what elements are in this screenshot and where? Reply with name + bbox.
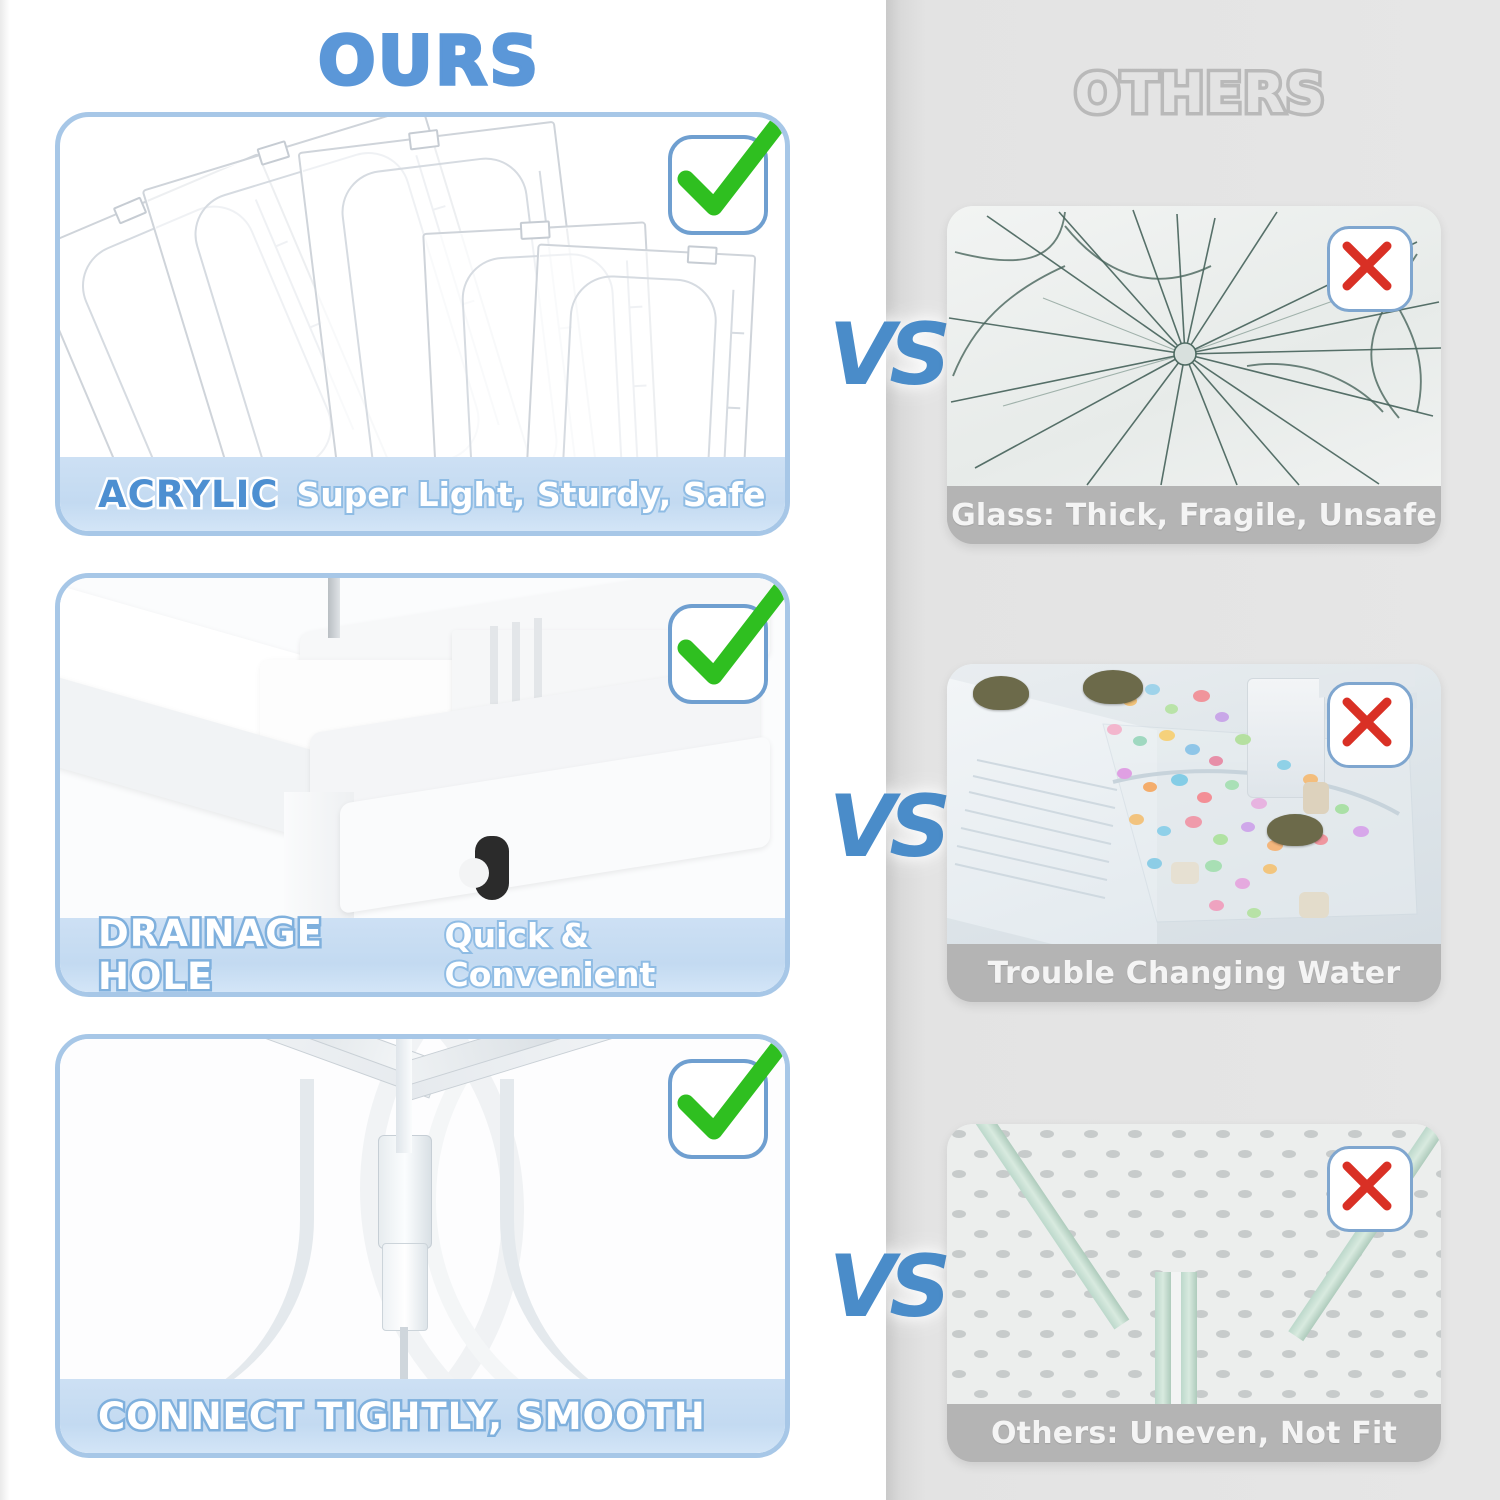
- others-card-water-change: Trouble Changing Water: [947, 664, 1441, 1002]
- ours-card-connection: CONNECT TIGHTLY, SMOOTH: [55, 1034, 790, 1458]
- connection-caption-bar: CONNECT TIGHTLY, SMOOTH: [60, 1379, 785, 1453]
- ours-card-drainage: DRAINAGE HOLE Quick & Convenient: [55, 573, 790, 997]
- others-heading: OTHERS: [1035, 62, 1365, 125]
- check-badge: [668, 135, 760, 227]
- others-card-glass: Glass: Thick, Fragile, Unsafe: [947, 206, 1441, 544]
- corner-joint-illustration: [60, 1039, 785, 1379]
- drainage-caption-strong: DRAINAGE HOLE: [98, 912, 427, 997]
- check-icon: [664, 578, 785, 704]
- acrylic-panels-illustration: [60, 117, 785, 457]
- uneven-glass-corner-photo: [947, 1124, 1441, 1404]
- water-change-caption-text: Trouble Changing Water: [988, 956, 1401, 991]
- check-icon: [664, 1039, 785, 1159]
- fit-caption-text: Others: Uneven, Not Fit: [991, 1416, 1397, 1451]
- acrylic-caption-bar: ACRYLIC Super Light, Sturdy, Safe: [60, 457, 785, 531]
- glass-caption-text: Glass: Thick, Fragile, Unsafe: [951, 498, 1437, 533]
- vs-separator-2: VS: [812, 772, 962, 882]
- cross-badge: [1327, 682, 1407, 762]
- connection-caption-strong: CONNECT TIGHTLY, SMOOTH: [98, 1395, 706, 1438]
- close-icon: [1327, 1146, 1407, 1226]
- check-badge: [668, 604, 760, 696]
- cross-badge: [1327, 1146, 1407, 1226]
- acrylic-caption-sub: Super Light, Sturdy, Safe: [297, 475, 766, 514]
- tank-corner-drain-valve-photo: [60, 578, 785, 918]
- turtle: [973, 676, 1029, 710]
- left-edge-shadow: [0, 0, 10, 1500]
- turtle: [1267, 814, 1323, 846]
- close-icon: [1327, 226, 1407, 306]
- vs-separator-3: VS: [812, 1232, 962, 1342]
- ours-heading: OURS: [274, 22, 584, 101]
- vs-separator-1: VS: [812, 300, 962, 410]
- water-change-caption-bar: Trouble Changing Water: [947, 944, 1441, 1002]
- fit-caption-bar: Others: Uneven, Not Fit: [947, 1404, 1441, 1462]
- others-card-fit: Others: Uneven, Not Fit: [947, 1124, 1441, 1462]
- check-icon: [664, 117, 785, 235]
- drainage-caption-bar: DRAINAGE HOLE Quick & Convenient: [60, 918, 785, 992]
- check-badge: [668, 1059, 760, 1151]
- ours-card-acrylic: ACRYLIC Super Light, Sturdy, Safe: [55, 112, 790, 536]
- close-icon: [1327, 682, 1407, 762]
- acrylic-caption-strong: ACRYLIC: [98, 473, 279, 516]
- comparison-infographic: OURS OTHERS: [0, 0, 1500, 1500]
- turtle: [1083, 670, 1143, 704]
- drainage-caption-sub: Quick & Convenient: [445, 916, 785, 994]
- cross-badge: [1327, 226, 1407, 306]
- turtle-tank-gravel-photo: [947, 664, 1441, 944]
- shattered-glass-photo: [947, 206, 1441, 486]
- glass-caption-bar: Glass: Thick, Fragile, Unsafe: [947, 486, 1441, 544]
- drain-valve: [475, 836, 509, 900]
